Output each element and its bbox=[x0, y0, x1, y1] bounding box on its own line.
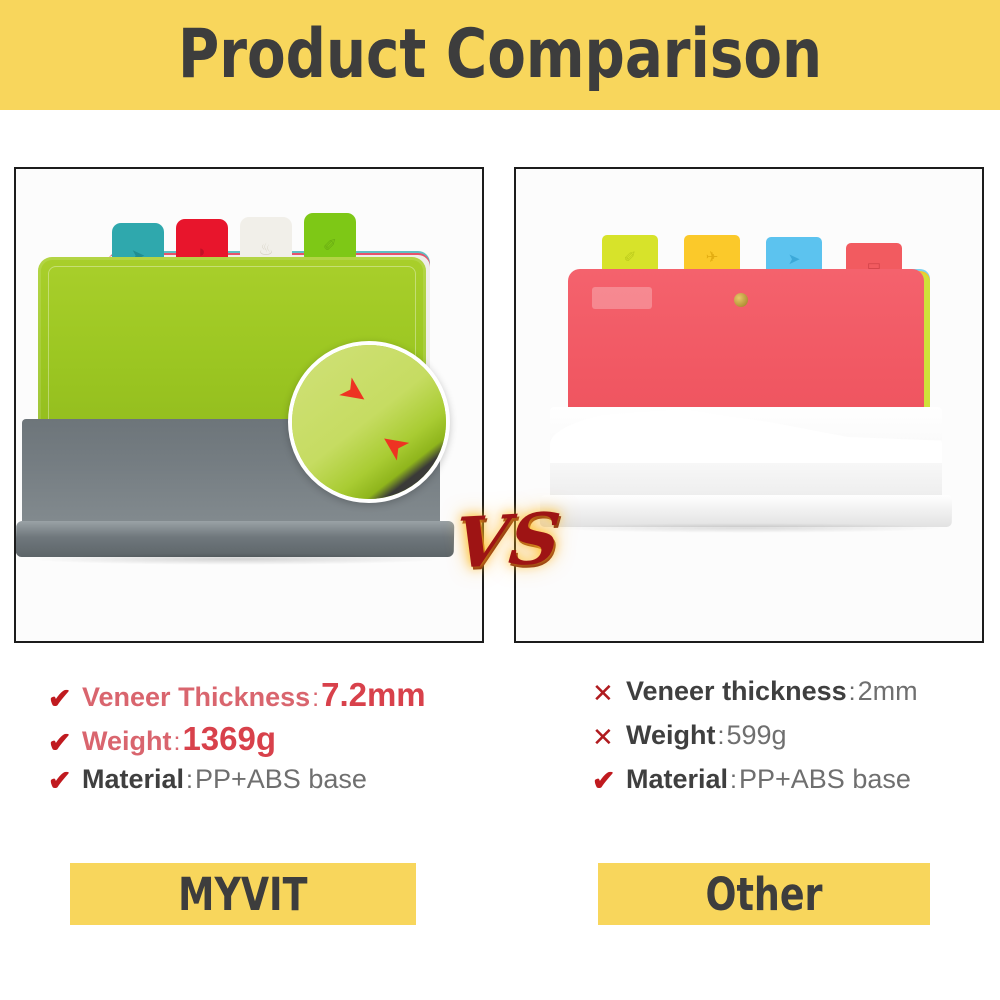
check-icon: ✔ bbox=[48, 767, 82, 795]
spec-separator: : bbox=[716, 722, 727, 751]
spec-separator: : bbox=[184, 766, 195, 795]
versus-badge: VS bbox=[455, 482, 559, 600]
spec-list-right: ✕ Veneer thickness : 2mm ✕ Weight : 599g… bbox=[592, 676, 1000, 808]
cross-icon: ✕ bbox=[592, 724, 626, 750]
check-icon: ✔ bbox=[592, 767, 626, 795]
carrot-icon: ✐ bbox=[323, 237, 337, 254]
spec-value: PP+ABS base bbox=[195, 764, 367, 795]
spec-value: 2mm bbox=[858, 676, 918, 707]
brand-name: MYVIT bbox=[178, 872, 307, 917]
check-icon: ✔ bbox=[48, 685, 82, 713]
spec-row-veneer-thickness: ✕ Veneer thickness : 2mm bbox=[592, 676, 1000, 720]
spec-row-material: ✔ Material : PP+ABS base bbox=[48, 764, 518, 808]
vegetable-tab: ✐ bbox=[304, 213, 356, 259]
spec-separator: : bbox=[310, 684, 321, 713]
spec-row-weight: ✕ Weight : 599g bbox=[592, 720, 1000, 764]
spec-value: PP+ABS base bbox=[739, 764, 911, 795]
product-panel-right: ✐ ✈ ➤ ▭ bbox=[514, 167, 984, 643]
spec-label: Weight bbox=[82, 726, 172, 757]
cross-icon: ✕ bbox=[592, 680, 626, 706]
chicken-icon: ✈ bbox=[706, 250, 719, 265]
brand-banner-right: Other bbox=[598, 863, 930, 925]
spec-separator: : bbox=[172, 728, 183, 757]
label-patch bbox=[592, 287, 652, 309]
page-title: Product Comparison bbox=[178, 21, 822, 89]
leaf-icon: ✐ bbox=[624, 250, 637, 265]
comparison-panels: ➤ ◗ ♨ ✐ ➤ ➤ bbox=[0, 167, 1000, 645]
header-band: Product Comparison bbox=[0, 0, 1000, 110]
product-shadow bbox=[26, 553, 446, 565]
spec-value: 599g bbox=[726, 720, 786, 751]
brand-name: Other bbox=[705, 872, 822, 917]
spec-label: Material bbox=[82, 764, 184, 795]
spec-value: 7.2mm bbox=[321, 676, 426, 714]
thickness-magnifier: ➤ ➤ bbox=[288, 341, 450, 503]
spec-comparison: ✔ Veneer Thickness : 7.2mm ✔ Weight : 13… bbox=[0, 676, 1000, 826]
product-shadow bbox=[550, 523, 946, 533]
spec-label: Veneer thickness bbox=[626, 676, 847, 707]
versus-label: VS bbox=[451, 503, 563, 578]
brand-banner-left: MYVIT bbox=[70, 863, 416, 925]
product-image-right: ✐ ✈ ➤ ▭ bbox=[516, 169, 982, 641]
spec-label: Weight bbox=[626, 720, 716, 751]
product-panel-left: ➤ ◗ ♨ ✐ ➤ ➤ bbox=[14, 167, 484, 643]
spec-separator: : bbox=[728, 766, 739, 795]
hanging-hole bbox=[734, 293, 748, 307]
spec-label: Material bbox=[626, 764, 728, 795]
spec-separator: : bbox=[847, 678, 858, 707]
spec-label: Veneer Thickness bbox=[82, 682, 310, 713]
bowl-icon: ♨ bbox=[258, 241, 273, 258]
board-edge-closeup bbox=[288, 341, 450, 503]
grey-base-foot bbox=[16, 521, 455, 557]
check-icon: ✔ bbox=[48, 729, 82, 757]
spec-row-weight: ✔ Weight : 1369g bbox=[48, 720, 518, 764]
fish-icon: ➤ bbox=[788, 252, 801, 267]
spec-list-left: ✔ Veneer Thickness : 7.2mm ✔ Weight : 13… bbox=[48, 676, 518, 808]
spec-row-material: ✔ Material : PP+ABS base bbox=[592, 764, 1000, 808]
product-image-left: ➤ ◗ ♨ ✐ ➤ ➤ bbox=[16, 169, 482, 641]
spec-row-veneer-thickness: ✔ Veneer Thickness : 7.2mm bbox=[48, 676, 518, 720]
spec-value: 1369g bbox=[182, 720, 276, 758]
